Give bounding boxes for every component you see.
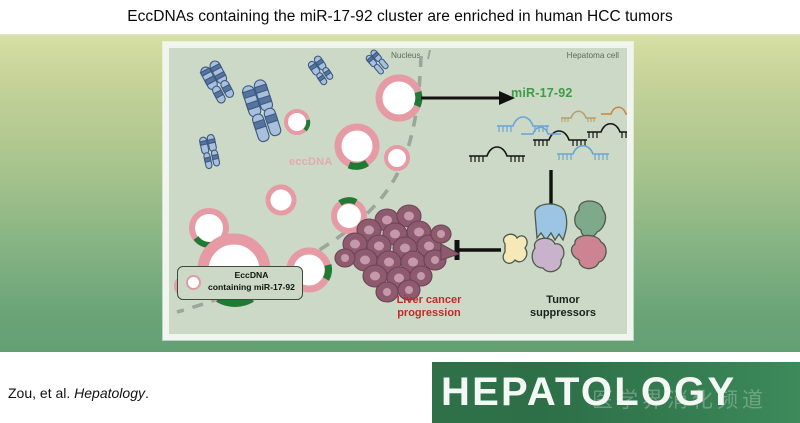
tumor-cell-mass	[335, 205, 459, 302]
label-eccdna: eccDNA	[289, 156, 332, 168]
figure-legend: EccDNA containing miR-17-92	[177, 266, 303, 300]
figure-panel-inner: Nucleus Hepatoma cell	[169, 48, 627, 334]
tumor-suppressors-line1: Tumor	[546, 294, 579, 306]
eccdna-ring	[379, 78, 419, 118]
inhibition-arrow-vertical	[537, 170, 565, 220]
eccdna-ring	[386, 147, 408, 169]
eccdna-ring	[192, 211, 226, 245]
eccdna-ring	[268, 187, 294, 213]
mirna-hairpin	[533, 131, 587, 146]
tumor-suppressor-group	[503, 201, 606, 272]
mirna-hairpin-group	[469, 107, 627, 162]
blob-cream	[503, 234, 527, 263]
blob-green	[575, 201, 606, 237]
citation: Zou, et al. Hepatology.	[8, 385, 149, 401]
page-title: EccDNAs containing the miR-17-92 cluster…	[127, 8, 673, 26]
mirna-hairpin	[601, 107, 627, 114]
label-liver-cancer-progression: Liver cancer progression	[369, 294, 489, 320]
citation-suffix: .	[145, 385, 149, 401]
tumor-suppressors-line2: suppressors	[530, 307, 596, 319]
label-mir-17-92: miR-17-92	[511, 86, 573, 100]
eccdna-ring-icon	[186, 275, 201, 290]
eccdna-ring	[334, 200, 364, 231]
chromosome-group	[199, 49, 390, 169]
banner-top-highlight	[0, 34, 800, 37]
mirna-hairpin	[587, 124, 627, 138]
watermark-text: 医学界消化频道	[592, 384, 767, 414]
figure-panel: Nucleus Hepatoma cell	[163, 42, 633, 340]
label-tumor-suppressors: Tumor suppressors	[503, 294, 623, 320]
blob-lavender	[532, 238, 564, 271]
slide-canvas: EccDNAs containing the miR-17-92 cluster…	[0, 0, 800, 423]
legend-line2: containing miR-17-92	[208, 282, 295, 292]
mirna-hairpin	[469, 147, 525, 162]
liver-cancer-line1: Liver cancer	[397, 294, 462, 306]
citation-authors: Zou, et al.	[8, 385, 74, 401]
slide-footer: Zou, et al. Hepatology. HEPATOLOGY 医学界消化…	[0, 352, 800, 423]
nucleus-pointer-tick	[427, 50, 431, 59]
hepatology-logo: HEPATOLOGY 医学界消化频道	[432, 362, 800, 423]
label-hepatoma-cell: Hepatoma cell	[567, 51, 619, 60]
citation-journal: Hepatology	[74, 385, 145, 401]
liver-cancer-line2: progression	[397, 307, 461, 319]
legend-label: EccDNA containing miR-17-92	[203, 270, 300, 293]
slide-title-bar: EccDNAs containing the miR-17-92 cluster…	[0, 0, 800, 34]
inhibition-arrow-horizontal	[457, 240, 501, 260]
legend-line1: EccDNA	[235, 270, 269, 280]
mirna-hairpin	[497, 117, 549, 132]
mirna-hairpin	[561, 111, 596, 122]
eccdna-ring	[338, 127, 376, 166]
label-nucleus: Nucleus	[391, 51, 421, 60]
mirna-hairpin	[521, 127, 561, 134]
eccdna-ring	[286, 111, 308, 133]
transcription-arrow	[421, 91, 515, 105]
blob-rose	[572, 235, 607, 268]
mirna-hairpin	[557, 146, 609, 160]
blob-blue	[535, 204, 567, 240]
